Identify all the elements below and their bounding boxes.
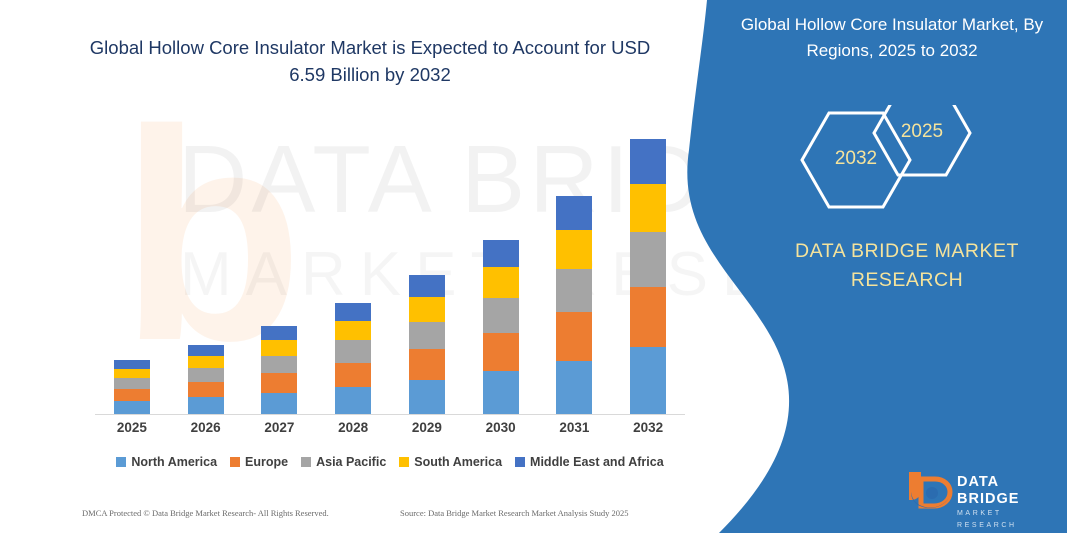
x-axis-label-2030: 2030 <box>483 420 519 435</box>
page-title: Global Hollow Core Insulator Market is E… <box>70 34 670 88</box>
legend-swatch <box>116 457 126 467</box>
bar-segment-2030-south-america <box>483 267 519 298</box>
hexagon-group: 2032 2025 <box>677 105 1067 205</box>
brand-name-line2: RESEARCH <box>851 269 963 291</box>
bar-segment-2026-asia-pacific <box>188 368 224 382</box>
logo-bridge-icon <box>905 470 953 510</box>
bar-2030[interactable] <box>483 240 519 415</box>
bar-segment-2032-middle-east-and-africa <box>630 139 666 184</box>
brand-name: DATA BRIDGE MARKET RESEARCH <box>767 237 1047 295</box>
panel-title: Global Hollow Core Insulator Market, By … <box>737 12 1047 64</box>
legend-item-asia-pacific[interactable]: Asia Pacific <box>301 455 386 469</box>
infographic-page: b DATA BRIDGE MARKET RESEARCH Global Hol… <box>0 0 1067 533</box>
bar-segment-2030-asia-pacific <box>483 298 519 333</box>
footer-source: Source: Data Bridge Market Research Mark… <box>400 508 629 518</box>
x-axis-label-2032: 2032 <box>630 420 666 435</box>
legend-label: Middle East and Africa <box>530 455 664 469</box>
bar-segment-2030-middle-east-and-africa <box>483 240 519 268</box>
bar-segment-2028-south-america <box>335 321 371 341</box>
bar-segment-2028-asia-pacific <box>335 340 371 362</box>
bar-segment-2029-europe <box>409 349 445 380</box>
bar-segment-2027-south-america <box>261 340 297 355</box>
bar-segment-2031-north-america <box>556 361 592 415</box>
bar-segment-2027-middle-east-and-africa <box>261 326 297 340</box>
legend-item-south-america[interactable]: South America <box>399 455 502 469</box>
legend-label: South America <box>414 455 502 469</box>
hexagon-2032-label: 2032 <box>806 148 906 170</box>
bar-segment-2025-asia-pacific <box>114 378 150 389</box>
x-axis-label-2028: 2028 <box>335 420 371 435</box>
bar-2032[interactable] <box>630 139 666 415</box>
bar-segment-2030-europe <box>483 333 519 372</box>
bar-segment-2030-north-america <box>483 371 519 415</box>
x-axis-label-2026: 2026 <box>188 420 224 435</box>
bar-segment-2028-europe <box>335 363 371 388</box>
chart-legend: North AmericaEuropeAsia PacificSouth Ame… <box>95 455 685 469</box>
legend-item-north-america[interactable]: North America <box>116 455 217 469</box>
bar-segment-2026-north-america <box>188 397 224 415</box>
bar-segment-2027-north-america <box>261 393 297 415</box>
legend-label: North America <box>131 455 217 469</box>
bar-segment-2029-north-america <box>409 380 445 415</box>
legend-swatch <box>399 457 409 467</box>
bar-segment-2025-middle-east-and-africa <box>114 360 150 369</box>
bar-segment-2029-asia-pacific <box>409 322 445 350</box>
brand-panel: Global Hollow Core Insulator Market, By … <box>677 0 1067 533</box>
bar-segment-2025-europe <box>114 389 150 401</box>
bar-segment-2032-europe <box>630 287 666 347</box>
bar-segment-2032-south-america <box>630 184 666 232</box>
bar-2029[interactable] <box>409 275 445 415</box>
hexagon-2025-label: 2025 <box>872 121 972 143</box>
company-logo: DATA BRIDGE MARKET RESEARCH <box>905 470 1055 516</box>
legend-swatch <box>301 457 311 467</box>
bar-segment-2026-south-america <box>188 356 224 368</box>
brand-name-line1: DATA BRIDGE MARKET <box>795 240 1019 262</box>
bar-segment-2026-middle-east-and-africa <box>188 345 224 356</box>
bar-2026[interactable] <box>188 345 224 415</box>
bar-segment-2028-north-america <box>335 387 371 415</box>
legend-label: Asia Pacific <box>316 455 386 469</box>
bar-2027[interactable] <box>261 326 297 415</box>
bar-segment-2028-middle-east-and-africa <box>335 303 371 321</box>
legend-item-europe[interactable]: Europe <box>230 455 288 469</box>
logo-line1: DATA BRIDGE <box>957 474 1055 508</box>
x-axis-line <box>95 414 685 415</box>
logo-line2: MARKET RESEARCH <box>957 508 1055 532</box>
bar-2025[interactable] <box>114 360 150 415</box>
bar-segment-2031-asia-pacific <box>556 269 592 313</box>
bar-segment-2029-south-america <box>409 297 445 322</box>
bar-segment-2025-south-america <box>114 369 150 379</box>
legend-label: Europe <box>245 455 288 469</box>
footer-copyright: DMCA Protected © Data Bridge Market Rese… <box>82 508 329 518</box>
bar-segment-2029-middle-east-and-africa <box>409 275 445 297</box>
bar-segment-2032-north-america <box>630 347 666 415</box>
x-axis-label-2027: 2027 <box>261 420 297 435</box>
bar-2028[interactable] <box>335 303 371 415</box>
bar-segment-2031-europe <box>556 312 592 360</box>
legend-swatch <box>515 457 525 467</box>
bar-segment-2025-north-america <box>114 401 150 415</box>
bar-segment-2031-south-america <box>556 230 592 269</box>
chart-plot-area <box>95 120 685 415</box>
bar-segment-2027-asia-pacific <box>261 356 297 374</box>
bar-2031[interactable] <box>556 196 592 415</box>
legend-item-middle-east-and-africa[interactable]: Middle East and Africa <box>515 455 664 469</box>
bar-segment-2027-europe <box>261 373 297 393</box>
bar-segment-2026-europe <box>188 382 224 397</box>
stacked-bar-chart <box>95 120 685 415</box>
bar-segment-2031-middle-east-and-africa <box>556 196 592 231</box>
legend-swatch <box>230 457 240 467</box>
x-axis-label-2025: 2025 <box>114 420 150 435</box>
bar-segment-2032-asia-pacific <box>630 232 666 286</box>
x-axis-label-2031: 2031 <box>556 420 592 435</box>
x-axis-label-2029: 2029 <box>409 420 445 435</box>
x-axis-labels: 20252026202720282029203020312032 <box>95 420 685 435</box>
logo-text: DATA BRIDGE MARKET RESEARCH <box>957 474 1055 532</box>
